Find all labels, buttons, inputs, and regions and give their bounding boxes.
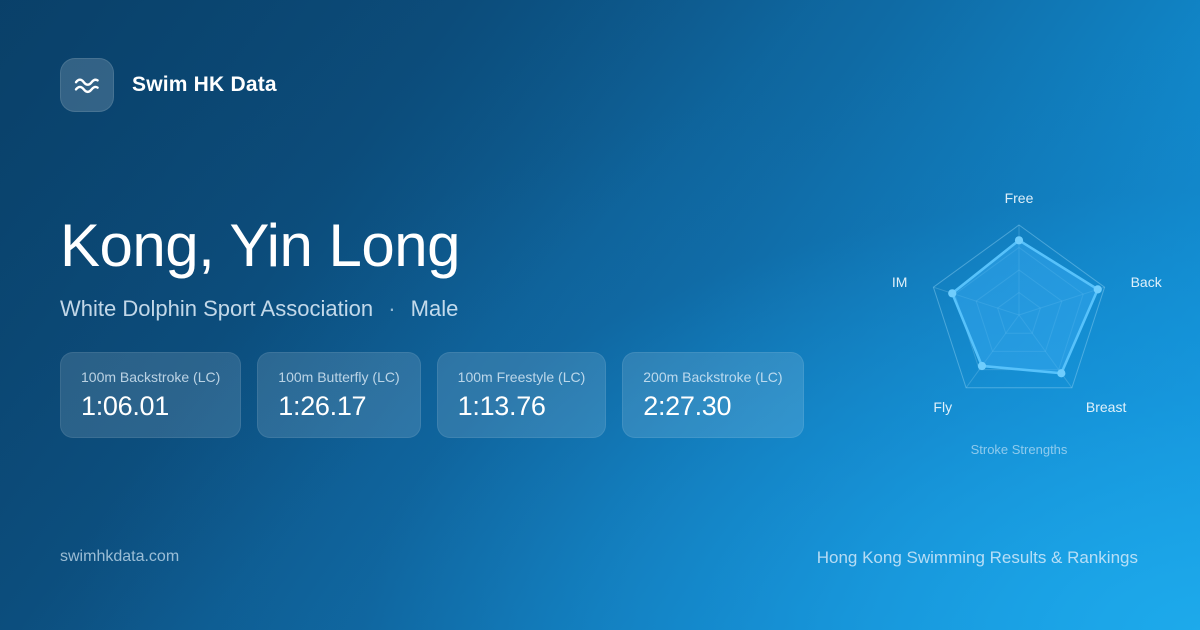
og-card-canvas: Swim HK Data Kong, Yin Long White Dolphi… bbox=[0, 0, 1200, 630]
footer-tagline: Hong Kong Swimming Results & Rankings bbox=[817, 548, 1138, 568]
page-title: Kong, Yin Long bbox=[60, 216, 460, 276]
best-times-list: 100m Backstroke (LC) 1:06.01 100m Butter… bbox=[60, 352, 804, 438]
wave-icon bbox=[60, 58, 114, 112]
athlete-club: White Dolphin Sport Association bbox=[60, 296, 373, 321]
brand-name: Swim HK Data bbox=[132, 73, 277, 97]
radar-axis-label-free: Free bbox=[844, 190, 1194, 206]
radar-axis-label-breast: Breast bbox=[1086, 399, 1126, 415]
list-item: 200m Backstroke (LC) 2:27.30 bbox=[622, 352, 803, 438]
list-item: 100m Freestyle (LC) 1:13.76 bbox=[437, 352, 607, 438]
stat-value: 1:13.76 bbox=[458, 392, 586, 420]
hero-block: Kong, Yin Long White Dolphin Sport Assoc… bbox=[60, 216, 460, 322]
list-item: 100m Backstroke (LC) 1:06.01 bbox=[60, 352, 241, 438]
list-item: 100m Butterfly (LC) 1:26.17 bbox=[257, 352, 420, 438]
meta-separator: · bbox=[379, 296, 404, 322]
stat-label: 100m Freestyle (LC) bbox=[458, 369, 586, 385]
radar-axis-label-im: IM bbox=[844, 274, 907, 290]
radar-svg bbox=[844, 166, 1194, 476]
brand-lockup: Swim HK Data bbox=[60, 58, 277, 112]
stat-label: 100m Butterfly (LC) bbox=[278, 369, 399, 385]
athlete-gender: Male bbox=[411, 296, 459, 321]
athlete-meta: White Dolphin Sport Association · Male bbox=[60, 296, 460, 322]
footer-site-url: swimhkdata.com bbox=[60, 548, 179, 566]
stat-label: 100m Backstroke (LC) bbox=[81, 369, 220, 385]
stat-label: 200m Backstroke (LC) bbox=[643, 369, 782, 385]
stat-value: 1:06.01 bbox=[81, 392, 220, 420]
radar-axis-label-back: Back bbox=[1131, 274, 1162, 290]
stat-value: 2:27.30 bbox=[643, 392, 782, 420]
stroke-strengths-radar-chart: Free Back Breast Fly IM Stroke Strengths bbox=[844, 166, 1194, 476]
radar-axis-label-fly: Fly bbox=[844, 399, 952, 415]
stat-value: 1:26.17 bbox=[278, 392, 399, 420]
chart-caption: Stroke Strengths bbox=[844, 442, 1194, 457]
